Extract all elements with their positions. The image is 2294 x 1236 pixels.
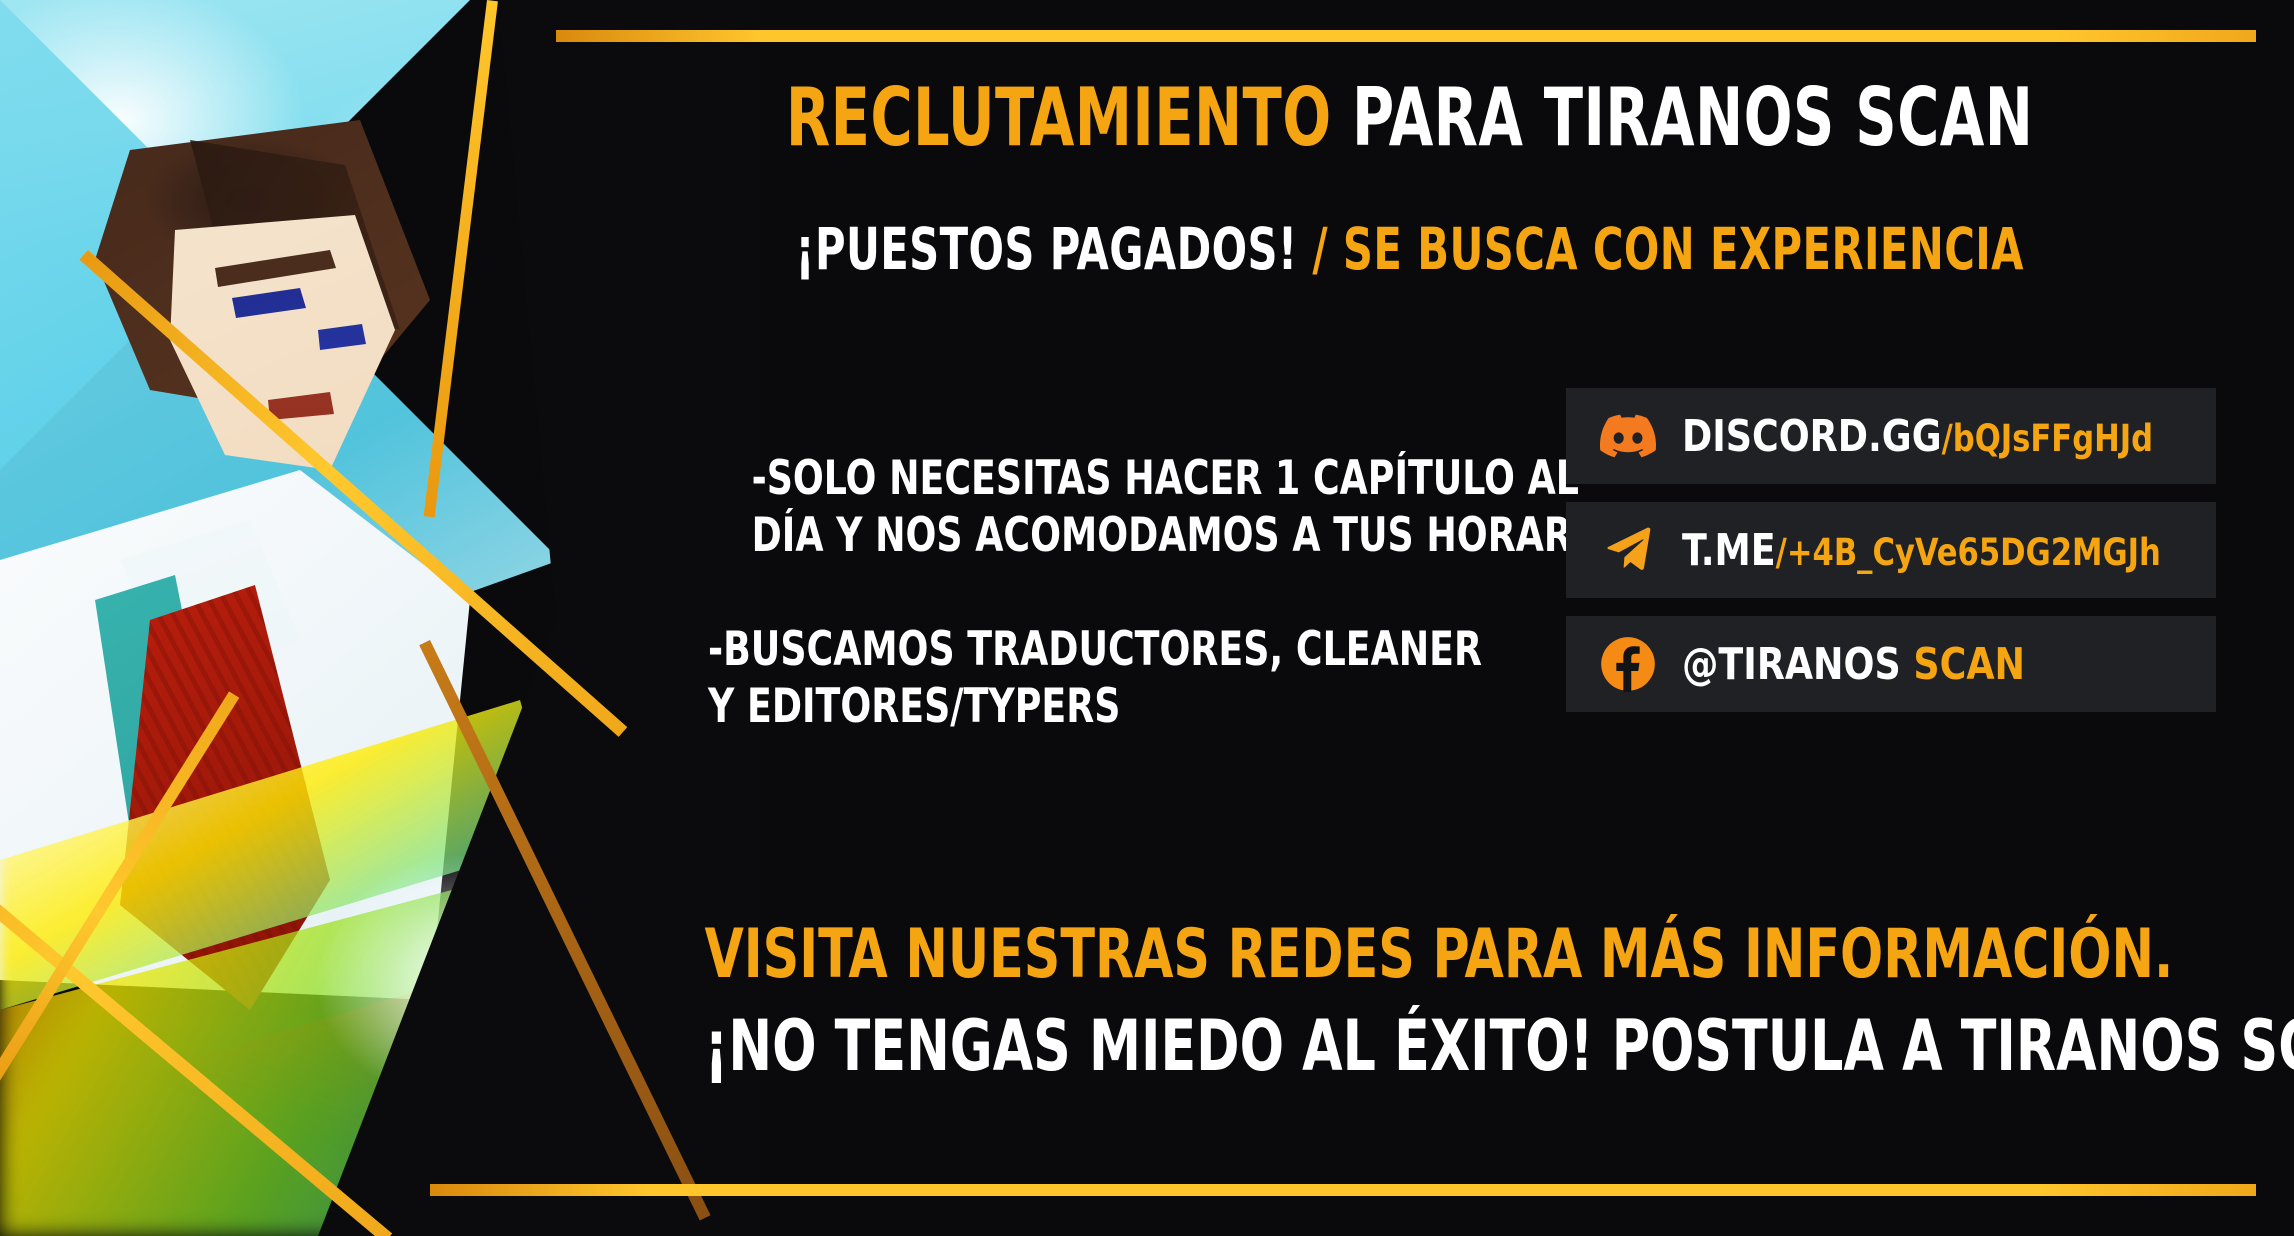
headline-rest: PARA TIRANOS SCAN (1332, 71, 2034, 164)
headline: RECLUTAMIENTO PARA TIRANOS SCAN (560, 78, 2260, 158)
requirements-list: -SOLO NECESITAS HACER 1 CAPÍTULO AL DÍA … (690, 450, 1570, 791)
bullet-line: -SOLO NECESITAS HACER 1 CAPÍTULO AL (752, 450, 1509, 507)
contact-telegram[interactable]: T.ME/+4B_CyVe65DG2MGJh (1566, 502, 2216, 598)
bullet-line: Y EDITORES/TYPERS (708, 678, 1449, 735)
contact-facebook-label: @TIRANOS SCAN (1682, 639, 2025, 690)
contact-facebook-suffix: SCAN (1901, 639, 2025, 690)
discord-icon (1600, 408, 1656, 464)
contact-list: DISCORD.GG/bQJsFFgHJd T.ME/+4B_CyVe65DG2… (1566, 388, 2216, 730)
contact-telegram-label: T.ME/+4B_CyVe65DG2MGJh (1682, 525, 2161, 576)
list-item: -BUSCAMOS TRADUCTORES, CLEANER Y EDITORE… (690, 621, 1570, 736)
contact-discord[interactable]: DISCORD.GG/bQJsFFgHJd (1566, 388, 2216, 484)
contact-telegram-code: /+4B_CyVe65DG2MGJh (1776, 531, 2161, 574)
recruitment-banner: RECLUTAMIENTO PARA TIRANOS SCAN ¡PUESTOS… (0, 0, 2294, 1236)
contact-discord-label: DISCORD.GG/bQJsFFgHJd (1682, 411, 2153, 462)
gold-rule-bottom (430, 1184, 2256, 1196)
headline-highlight: RECLUTAMIENTO (786, 71, 1332, 164)
telegram-icon (1600, 522, 1656, 578)
cta-line-apply: ¡NO TENGAS MIEDO AL ÉXITO! POSTULA A TIR… (705, 1000, 2116, 1092)
contact-discord-code: /bQJsFFgHJd (1942, 417, 2153, 460)
contact-telegram-domain: T.ME (1682, 525, 1776, 576)
list-item: -SOLO NECESITAS HACER 1 CAPÍTULO AL DÍA … (690, 450, 1570, 565)
gold-rule-top (556, 30, 2256, 42)
subheadline: ¡PUESTOS PAGADOS! / SE BUSCA CON EXPERIE… (560, 220, 2260, 279)
bullet-line: DÍA Y NOS ACOMODAMOS A TUS HORARIOS (752, 507, 1509, 564)
contact-facebook[interactable]: @TIRANOS SCAN (1566, 616, 2216, 712)
contact-facebook-handle: @TIRANOS (1682, 639, 1901, 690)
cta-line-visit: VISITA NUESTRAS REDES PARA MÁS INFORMACI… (705, 910, 2116, 1000)
contact-discord-domain: DISCORD.GG (1682, 411, 1942, 462)
facebook-icon (1600, 636, 1656, 692)
subheadline-experience: / SE BUSCA CON EXPERIENCIA (1298, 215, 2024, 283)
call-to-action: VISITA NUESTRAS REDES PARA MÁS INFORMACI… (560, 910, 2260, 1092)
subheadline-paid: ¡PUESTOS PAGADOS! (796, 215, 1298, 283)
bullet-line: -BUSCAMOS TRADUCTORES, CLEANER (708, 621, 1449, 678)
